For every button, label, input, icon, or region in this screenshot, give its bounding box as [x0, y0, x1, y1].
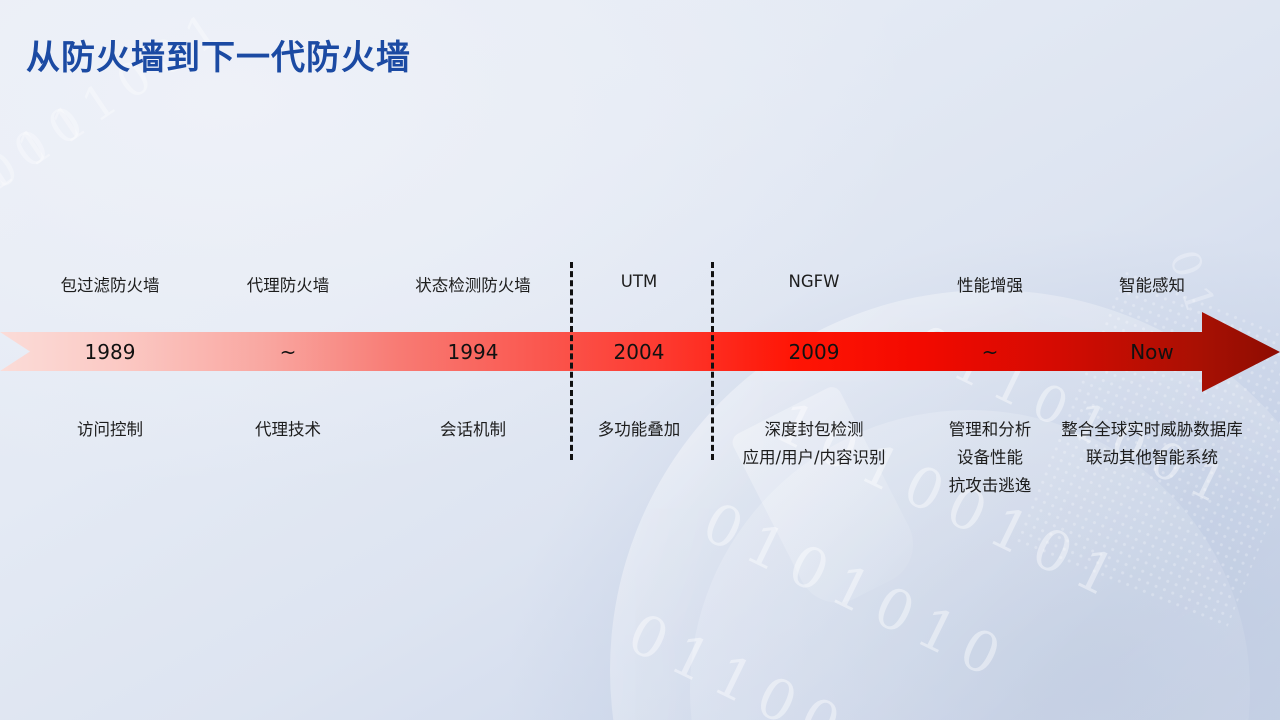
slide-canvas: 1001001 0011 01101001 10100101 0101010 0…: [0, 0, 1280, 720]
timeline-details-utm: 多功能叠加: [598, 416, 681, 444]
timeline-label-intelligent-awareness: 智能感知: [1119, 272, 1185, 296]
timeline-diagram: 包过滤防火墙1989访问控制代理防火墙~代理技术状态检测防火墙1994会话机制U…: [0, 0, 1280, 720]
timeline-label-packet-filter: 包过滤防火墙: [61, 272, 160, 296]
timeline-detail-line: 联动其他智能系统: [1061, 444, 1243, 472]
timeline-details-ngfw: 深度封包检测应用/用户/内容识别: [742, 416, 885, 472]
timeline-label-ngfw: NGFW: [789, 272, 840, 291]
timeline-year-stateful-inspection: 1994: [448, 340, 499, 364]
timeline-details-performance: 管理和分析设备性能抗攻击逃逸: [949, 416, 1032, 500]
timeline-detail-line: 访问控制: [77, 416, 143, 444]
timeline-year-packet-filter: 1989: [85, 340, 136, 364]
timeline-label-stateful-inspection: 状态检测防火墙: [415, 272, 531, 296]
timeline-detail-line: 整合全球实时威胁数据库: [1061, 416, 1243, 444]
timeline-year-proxy-firewall: ~: [280, 340, 297, 364]
timeline-divider-2: [711, 262, 714, 460]
timeline-year-intelligent-awareness: Now: [1130, 340, 1174, 364]
timeline-details-packet-filter: 访问控制: [77, 416, 143, 444]
timeline-detail-line: 代理技术: [255, 416, 321, 444]
timeline-detail-line: 深度封包检测: [742, 416, 885, 444]
timeline-arrow-band: [0, 332, 1202, 371]
timeline-detail-line: 抗攻击逃逸: [949, 472, 1032, 500]
timeline-label-performance: 性能增强: [957, 272, 1023, 296]
timeline-detail-line: 会话机制: [440, 416, 506, 444]
timeline-arrow-head-icon: [1202, 312, 1280, 392]
timeline-year-utm: 2004: [614, 340, 665, 364]
timeline-year-performance: ~: [982, 340, 999, 364]
timeline-year-ngfw: 2009: [789, 340, 840, 364]
timeline-detail-line: 管理和分析: [949, 416, 1032, 444]
timeline-details-proxy-firewall: 代理技术: [255, 416, 321, 444]
timeline-divider-1: [570, 262, 573, 460]
timeline-details-intelligent-awareness: 整合全球实时威胁数据库联动其他智能系统: [1061, 416, 1243, 472]
timeline-detail-line: 设备性能: [949, 444, 1032, 472]
timeline-label-utm: UTM: [621, 272, 657, 291]
timeline-detail-line: 多功能叠加: [598, 416, 681, 444]
timeline-label-proxy-firewall: 代理防火墙: [247, 272, 330, 296]
timeline-detail-line: 应用/用户/内容识别: [742, 444, 885, 472]
timeline-details-stateful-inspection: 会话机制: [440, 416, 506, 444]
